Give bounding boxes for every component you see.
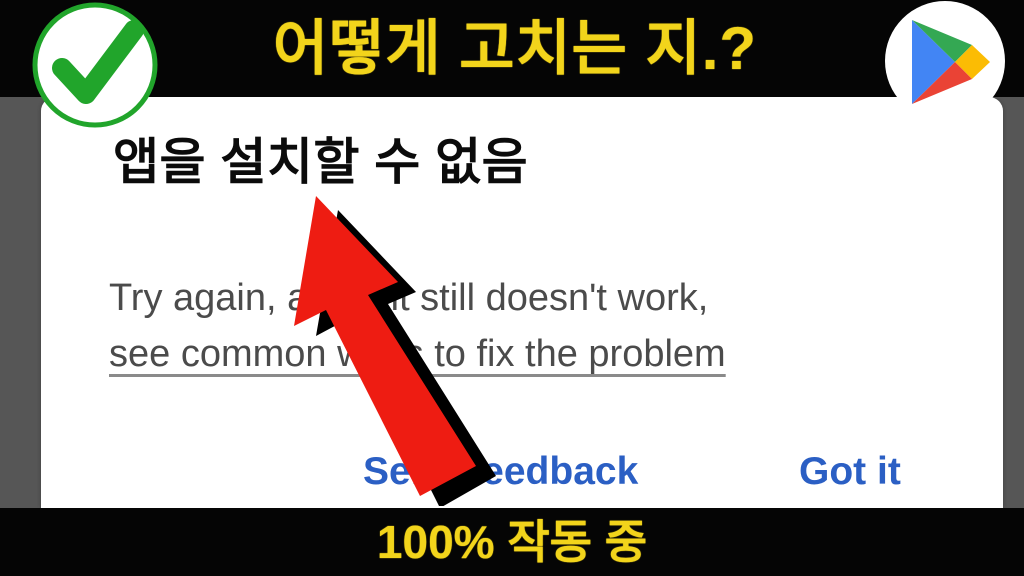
green-check-icon — [28, 0, 162, 132]
screenshot-root: 앱을 설치할 수 없음 Try again, and if it still d… — [0, 0, 1024, 576]
dialog-message-link[interactable]: see common ways to fix the problem — [109, 326, 939, 382]
bottom-banner-caption: 100% 작동 중 — [0, 508, 1024, 576]
top-banner-title: 어떻게 고치는 지.? — [170, 0, 860, 97]
dialog-message: Try again, and if it still doesn't work,… — [109, 270, 939, 382]
dialog-message-line-1: Try again, and if it still doesn't work, — [109, 270, 939, 326]
google-play-icon — [880, 0, 1010, 126]
dialog-title: 앱을 설치할 수 없음 — [113, 137, 528, 187]
install-error-dialog: 앱을 설치할 수 없음 Try again, and if it still d… — [41, 97, 1003, 508]
got-it-button[interactable]: Got it — [799, 452, 901, 491]
dialog-action-bar: Send feedback Got it — [41, 452, 1003, 508]
send-feedback-button[interactable]: Send feedback — [363, 452, 638, 491]
